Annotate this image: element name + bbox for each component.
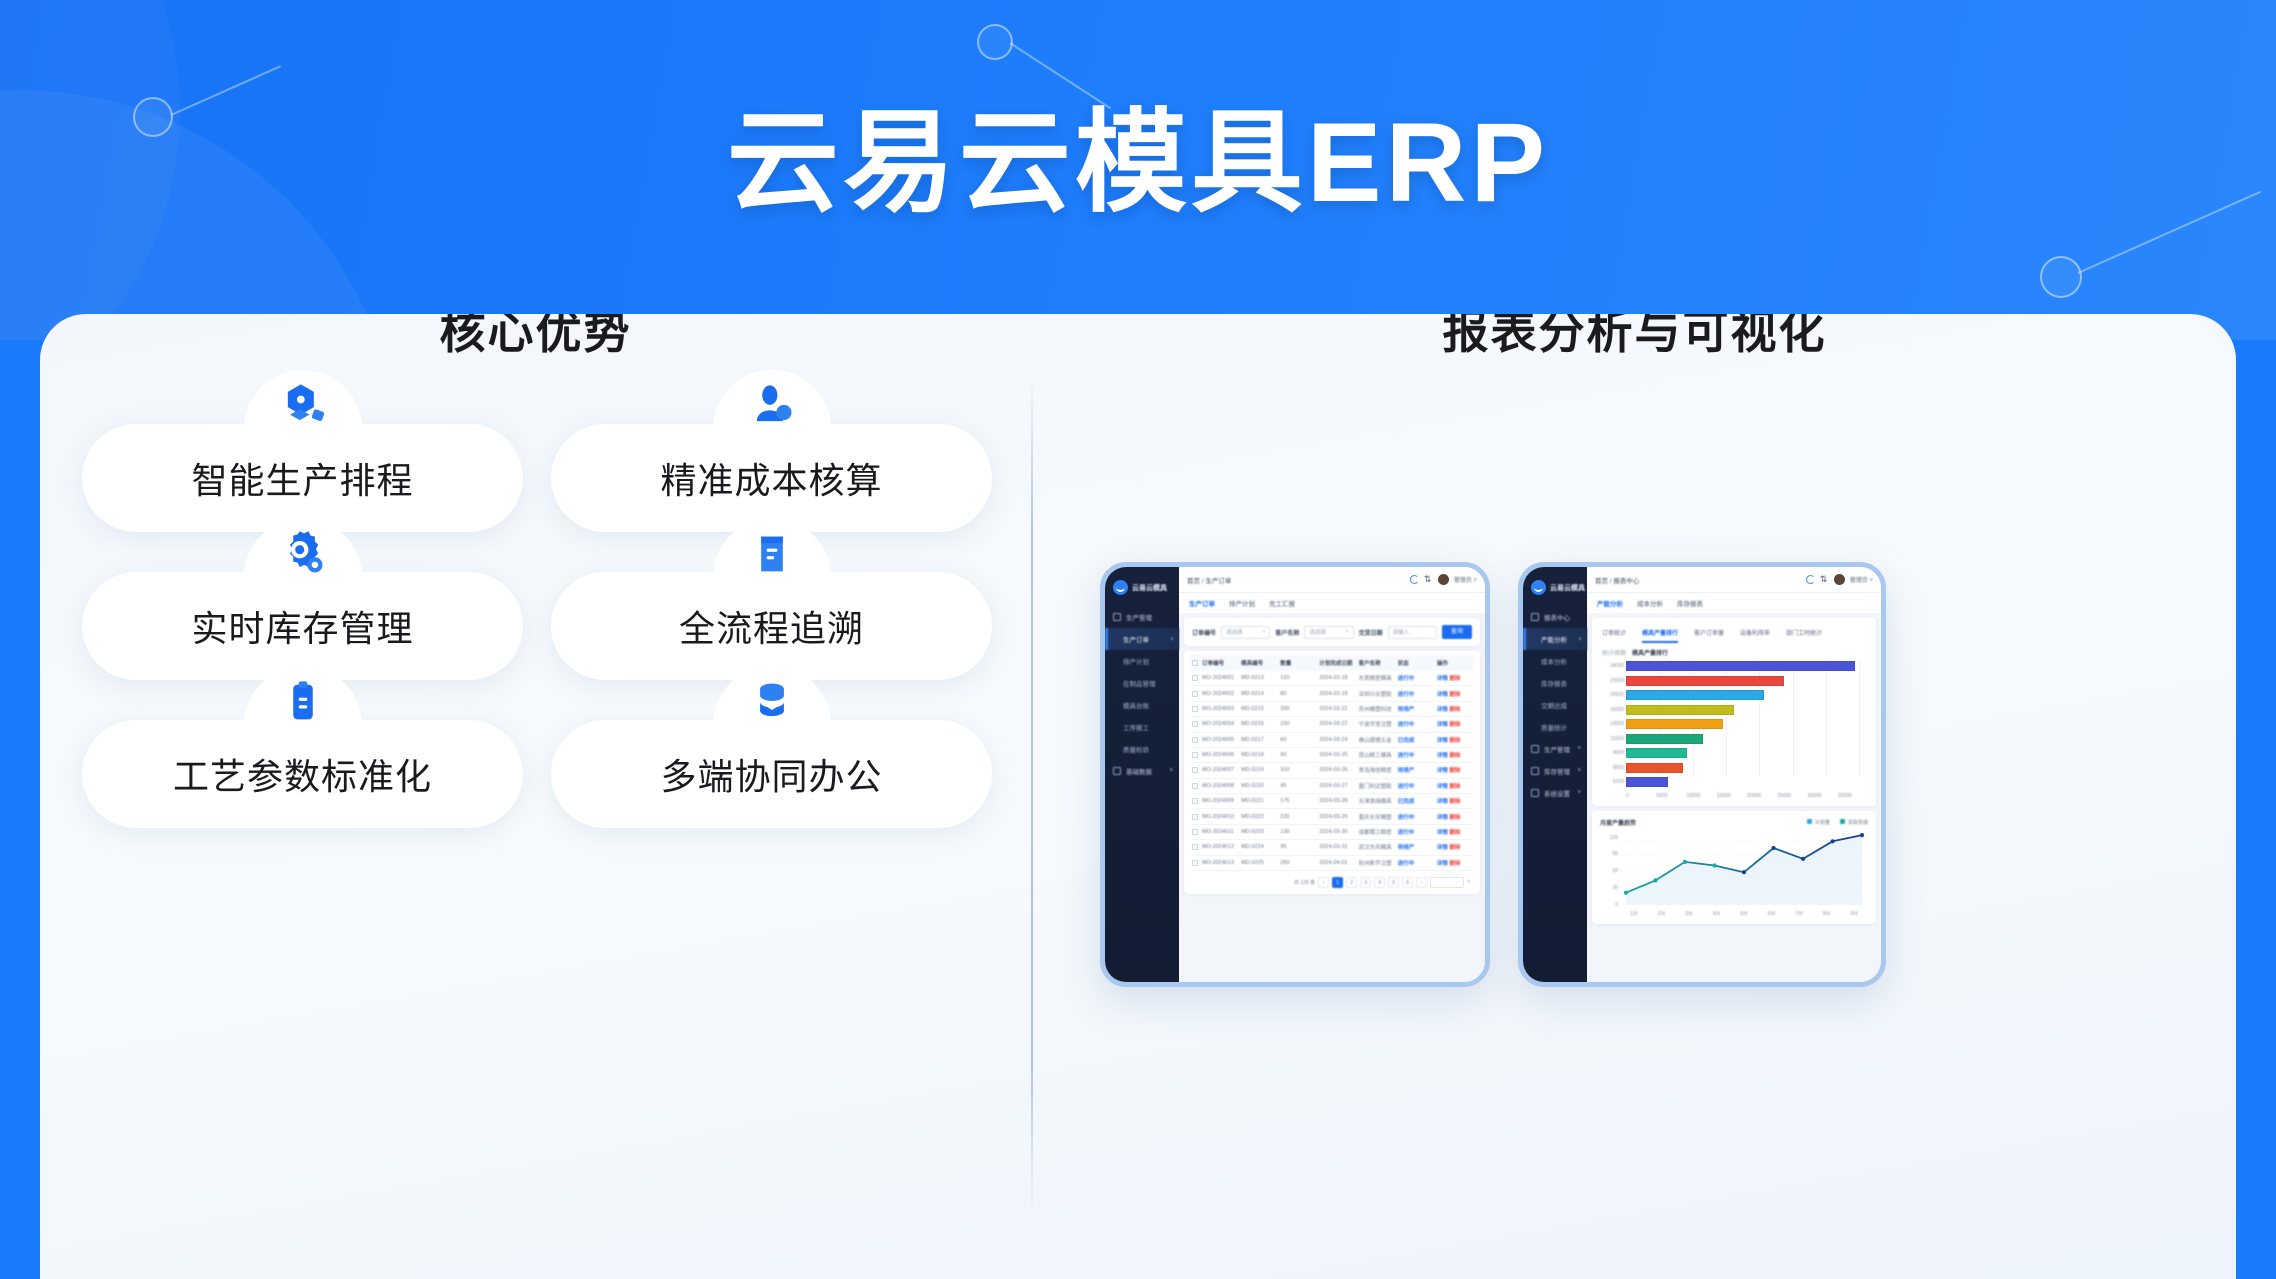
clipboard-icon — [277, 676, 329, 728]
line-chart-card: 月度产量趋势 计划量实际完成 0306090120 1月2月3月4月5月6月7月… — [1592, 811, 1876, 924]
cell: 东莞精密模具 — [1357, 671, 1396, 686]
sub-tab-2[interactable]: 客户订单量 — [1694, 628, 1724, 643]
cell: 武汉东风模具 — [1357, 840, 1396, 855]
bar — [1626, 705, 1734, 715]
page-body: 订单统计模具产量排行客户订单量设备利用率部门工时统计 统计周期模具产量排行 34… — [1587, 613, 1881, 982]
cell: 130 — [1278, 824, 1317, 839]
sidebar-item-2[interactable]: 库存报表 — [1523, 672, 1587, 694]
delete-link[interactable]: 删除 — [1449, 768, 1460, 774]
feature-card[interactable]: 多端协同办公 — [551, 720, 992, 828]
chevron-down-icon: ˅ — [1577, 790, 1581, 796]
feature-card[interactable]: 智能生产排程 — [82, 424, 523, 532]
sub-tab-0[interactable]: 订单统计 — [1602, 628, 1626, 643]
x-tick-1: 2月 — [1648, 910, 1676, 917]
delete-link[interactable]: 删除 — [1449, 692, 1460, 698]
sidebar-item-label: 交期达成 — [1541, 703, 1567, 710]
bar-label: 11500 — [1600, 736, 1624, 742]
app-logo: 云易云模具 — [1523, 571, 1587, 606]
sidebar-group-2[interactable]: 系统设置˅ — [1523, 782, 1587, 804]
cell: MO-2024005 — [1200, 732, 1239, 747]
x-tick-7: 35000 — [1838, 793, 1868, 799]
status-badge: 待排产 — [1396, 840, 1435, 855]
cell: MD-0218 — [1239, 747, 1278, 762]
bar-row-2: 20500 — [1626, 689, 1868, 701]
bar-row-5: 11500 — [1626, 733, 1868, 745]
username-label[interactable]: 管理员 ˅ — [1850, 575, 1873, 584]
line-chart-x-axis: 1月2月3月4月5月6月7月8月9月 — [1620, 910, 1868, 917]
sidebar-item-label: 产能分析 — [1541, 637, 1567, 644]
cell: 2024-03-22 — [1317, 717, 1356, 732]
sidebar: 云易云模具 报表中心 产能分析›成本分析库存报表交期达成质量统计 生产管理˅库存… — [1523, 567, 1587, 982]
row-checkbox[interactable] — [1190, 763, 1200, 778]
detail-link[interactable]: 详情 删除 — [1435, 701, 1474, 716]
sidebar-item-label: 质量检验 — [1123, 747, 1149, 754]
table-row[interactable]: MO-2024013MD-02252602024-04-01杭州新宇注塑进行中详… — [1190, 855, 1474, 870]
sidebar-group-label: 生产管理 — [1126, 612, 1152, 622]
cell: MD-0222 — [1239, 809, 1278, 824]
cell: MO-2024008 — [1200, 778, 1239, 793]
feature-card[interactable]: 精准成本核算 — [551, 424, 992, 532]
delete-link[interactable]: 删除 — [1449, 738, 1460, 744]
cell: 天津渤海模具 — [1357, 794, 1396, 809]
detail-link[interactable]: 详情 删除 — [1435, 794, 1474, 809]
filter-value: 请选择 — [1226, 628, 1243, 636]
cell: MD-0215 — [1239, 701, 1278, 716]
sidebar-item-label: 模具台账 — [1123, 703, 1149, 710]
bar-chart-title: 统计周期模具产量排行 — [1602, 648, 1868, 657]
grid-icon — [1113, 613, 1121, 621]
user-group-icon — [746, 380, 798, 432]
x-tick-4: 20000 — [1747, 793, 1777, 799]
cell: MO-2024010 — [1200, 809, 1239, 824]
cell: 杭州新宇注塑 — [1357, 855, 1396, 870]
cell: MD-0221 — [1239, 794, 1278, 809]
table-row[interactable]: MO-2024001MD-02131202024-03-18东莞精密模具进行中详… — [1190, 671, 1474, 686]
table-row[interactable]: MO-2024009MD-02211752024-03-28天津渤海模具已完成详… — [1190, 794, 1474, 809]
bar-chart-subtitle: 统计周期 — [1602, 651, 1626, 657]
detail-link[interactable]: 详情 删除 — [1435, 840, 1474, 855]
bar-label: 20500 — [1600, 692, 1624, 698]
bar-row-0: 34000 — [1626, 660, 1868, 672]
x-tick-3: 4月 — [1703, 910, 1731, 917]
detail-link[interactable]: 详情 删除 — [1435, 717, 1474, 732]
cell: 佛山顺德五金 — [1357, 732, 1396, 747]
delete-link[interactable]: 删除 — [1449, 815, 1460, 821]
cell: MO-2024006 — [1200, 747, 1239, 762]
row-checkbox[interactable] — [1190, 701, 1200, 716]
sidebar-group-label: 生产管理 — [1544, 744, 1570, 754]
x-tick-2: 3月 — [1675, 910, 1703, 917]
total-count: 共 126 条 — [1294, 879, 1315, 886]
line-chart-title: 月度产量趋势 — [1600, 818, 1636, 827]
bar-label: 8500 — [1600, 765, 1624, 771]
bar — [1626, 748, 1687, 758]
bar-label: 23500 — [1600, 678, 1624, 684]
cell: 成都蜀江精密 — [1357, 824, 1396, 839]
table-row[interactable]: MO-2024012MD-0224952024-03-31武汉东风模具待排产详情… — [1190, 840, 1474, 855]
cell: MO-2024009 — [1200, 794, 1239, 809]
sidebar-item-label: 排产计划 — [1123, 659, 1149, 666]
cell: 2024-03-27 — [1317, 778, 1356, 793]
delete-link[interactable]: 删除 — [1449, 845, 1460, 851]
page-title: 云易云模具ERP — [0, 72, 2276, 234]
sidebar-group-label: 库存管理 — [1544, 766, 1570, 776]
detail-link[interactable]: 详情 删除 — [1435, 809, 1474, 824]
y-tick-4: 120 — [1610, 835, 1618, 841]
bar-chart: 3400023500205001600014500115009000850062… — [1600, 660, 1868, 788]
sidebar-item-3[interactable]: 交期达成 — [1523, 694, 1587, 716]
delete-link[interactable]: 删除 — [1449, 861, 1460, 867]
cell: 45 — [1278, 778, 1317, 793]
column-header-2: 模具编号 — [1239, 655, 1278, 671]
sidebar-group-basedata[interactable]: 基础数据 ˅ — [1105, 760, 1179, 782]
cell: MD-0219 — [1239, 763, 1278, 778]
sidebar-item-2[interactable]: 在制品管理 — [1105, 672, 1179, 694]
table-row[interactable]: MO-2024011MD-02231302024-03-30成都蜀江精密进行中详… — [1190, 824, 1474, 839]
feature-card[interactable]: 实时库存管理 — [82, 572, 523, 680]
delete-link[interactable]: 删除 — [1449, 784, 1460, 790]
table-card: 订单编号模具编号数量计划完成日期客户名称状态操作 MO-2024001MD-02… — [1184, 651, 1480, 894]
filter-select-0[interactable]: 请选择˅ — [1221, 626, 1270, 639]
cell: 80 — [1278, 686, 1317, 701]
page-button-0[interactable]: ‹ — [1318, 877, 1329, 888]
filter-row: 订单编号请选择˅客户名称请选择˅交货日期请输入查询 — [1192, 625, 1472, 639]
cell: 2024-03-31 — [1317, 840, 1356, 855]
cell: 95 — [1278, 840, 1317, 855]
sidebar-group-list: 生产管理˅库存管理˅系统设置˅ — [1523, 738, 1587, 804]
breadcrumb: 首页 / 报表中心 — [1595, 575, 1639, 585]
bar-row-6: 9000 — [1626, 747, 1868, 759]
cube-hexagon-icon — [277, 380, 329, 432]
sidebar-group-production[interactable]: 生产管理 — [1105, 606, 1179, 628]
status-badge: 进行中 — [1396, 671, 1435, 686]
x-tick-6: 30000 — [1808, 793, 1838, 799]
select-all-checkbox[interactable] — [1192, 660, 1198, 666]
gear-icon — [1531, 789, 1539, 797]
tab-bar: 产能分析成本分析库存报表 — [1587, 593, 1881, 613]
table-row[interactable]: MO-2024006MD-0218902024-03-25昆山精工模具进行中详情… — [1190, 747, 1474, 762]
row-checkbox[interactable] — [1190, 824, 1200, 839]
cell: 120 — [1278, 671, 1317, 686]
tab-0[interactable]: 生产订单 — [1189, 598, 1215, 608]
bar — [1626, 734, 1703, 744]
decorative-circle-icon — [2040, 256, 2082, 298]
status-badge: 进行中 — [1396, 686, 1435, 701]
column-header-5: 客户名称 — [1357, 655, 1396, 671]
sidebar-group-0[interactable]: 生产管理˅ — [1523, 738, 1587, 760]
chevron-down-icon: ˅ — [1262, 629, 1265, 635]
cell: MD-0225 — [1239, 855, 1278, 870]
cell: 深圳兴业塑胶 — [1357, 686, 1396, 701]
cell: 2024-03-21 — [1317, 701, 1356, 716]
delete-link[interactable]: 删除 — [1449, 799, 1460, 805]
bar-label: 16000 — [1600, 707, 1624, 713]
chart-icon — [1531, 613, 1539, 621]
filter-value: 请输入 — [1393, 628, 1410, 636]
chevron-down-icon[interactable]: ˅ — [1467, 879, 1470, 885]
search-button[interactable]: 查询 — [1442, 625, 1472, 639]
bar — [1626, 661, 1855, 671]
table-row[interactable]: MO-2024005MD-0217602024-03-24佛山顺德五金已完成详情… — [1190, 732, 1474, 747]
page-button-3[interactable]: 3 — [1360, 877, 1371, 888]
line-chart-y-axis: 0306090120 — [1600, 827, 1618, 905]
filter-input-2[interactable]: 请输入 — [1388, 626, 1437, 639]
logo-text: 云易云模具 — [1132, 583, 1167, 593]
sidebar: 云易云模具 生产管理 生产订单›排产计划在制品管理模具台账工序报工质量检验 基础… — [1105, 567, 1179, 982]
x-tick-0: 1月 — [1620, 910, 1648, 917]
row-checkbox[interactable] — [1190, 717, 1200, 732]
main-content: 首页 / 生产订单 ⇅ 管理员 ˅ 生产订单排产计划完工汇报 订单编号请选择˅客… — [1179, 567, 1485, 982]
bar-label: 14500 — [1600, 721, 1624, 727]
bar — [1626, 676, 1784, 686]
database-stack-icon — [746, 676, 798, 728]
cell: MD-0224 — [1239, 840, 1278, 855]
row-checkbox[interactable] — [1190, 732, 1200, 747]
username-label[interactable]: 管理员 ˅ — [1454, 575, 1477, 584]
cell: MO-2024011 — [1200, 824, 1239, 839]
bar-chart-x-axis: 05000100001500020000250003000035000 — [1626, 791, 1868, 799]
cell: 2024-03-30 — [1317, 824, 1356, 839]
cell: MD-0223 — [1239, 824, 1278, 839]
cell: 苏州模塑科技 — [1357, 701, 1396, 716]
filter-card: 订单编号请选择˅客户名称请选择˅交货日期请输入查询 — [1184, 618, 1480, 646]
detail-link[interactable]: 详情 删除 — [1435, 855, 1474, 870]
bar — [1626, 690, 1764, 700]
page-button-4[interactable]: 4 — [1374, 877, 1385, 888]
pagination: 共 126 条‹123456›˅ — [1190, 871, 1474, 890]
sidebar-item-0[interactable]: 产能分析› — [1523, 628, 1587, 650]
sidebar-item-0[interactable]: 生产订单› — [1105, 628, 1179, 650]
detail-link[interactable]: 详情 删除 — [1435, 732, 1474, 747]
detail-link[interactable]: 详情 删除 — [1435, 686, 1474, 701]
y-tick-3: 90 — [1612, 851, 1618, 857]
row-checkbox[interactable] — [1190, 840, 1200, 855]
cell: MD-0216 — [1239, 717, 1278, 732]
cell: 厦门利达塑胶 — [1357, 778, 1396, 793]
cell: 2024-03-25 — [1317, 747, 1356, 762]
cell: MO-2024007 — [1200, 763, 1239, 778]
sidebar-item-1[interactable]: 成本分析 — [1523, 650, 1587, 672]
status-badge: 已完成 — [1396, 732, 1435, 747]
chevron-right-icon: › — [1171, 636, 1173, 643]
sidebar-group-label: 报表中心 — [1544, 612, 1570, 622]
chevron-down-icon: ˅ — [1577, 768, 1581, 774]
cell: 260 — [1278, 855, 1317, 870]
column-header-1: 订单编号 — [1200, 655, 1239, 671]
status-badge: 进行中 — [1396, 717, 1435, 732]
sub-tab-bar: 订单统计模具产量排行客户订单量设备利用率部门工时统计 — [1600, 625, 1868, 643]
orders-table: 订单编号模具编号数量计划完成日期客户名称状态操作 MO-2024001MD-02… — [1190, 655, 1474, 871]
sidebar-group-label: 系统设置 — [1544, 788, 1570, 798]
row-checkbox[interactable] — [1190, 778, 1200, 793]
column-header-4: 计划完成日期 — [1317, 655, 1356, 671]
x-tick-0: 0 — [1626, 793, 1656, 799]
y-tick-1: 30 — [1612, 885, 1618, 891]
delete-link[interactable]: 删除 — [1449, 722, 1460, 728]
detail-link[interactable]: 详情 删除 — [1435, 778, 1474, 793]
logo-mark-icon — [1113, 580, 1128, 595]
cell: MO-2024013 — [1200, 855, 1239, 870]
filter-label-0: 订单编号 — [1192, 628, 1216, 637]
sidebar-item-1[interactable]: 排产计划 — [1105, 650, 1179, 672]
cell: 310 — [1278, 763, 1317, 778]
table-row[interactable]: MO-2024003MD-02152002024-03-21苏州模塑科技待排产详… — [1190, 701, 1474, 716]
delete-link[interactable]: 删除 — [1449, 753, 1460, 759]
row-checkbox[interactable] — [1190, 794, 1200, 809]
cell: MO-2024012 — [1200, 840, 1239, 855]
cell: MO-2024002 — [1200, 686, 1239, 701]
filter-label-2: 交货日期 — [1359, 628, 1383, 637]
detail-link[interactable]: 详情 删除 — [1435, 824, 1474, 839]
detail-link[interactable]: 详情 删除 — [1435, 763, 1474, 778]
content-panel: 核心优势 报表分析与可视化 智能生产排程精准成本核算实时库存管理全流程追溯工艺参… — [40, 314, 2236, 1279]
cell: MO-2024004 — [1200, 717, 1239, 732]
y-tick-2: 60 — [1612, 868, 1618, 874]
status-badge: 进行中 — [1396, 747, 1435, 762]
delete-link[interactable]: 删除 — [1449, 830, 1460, 836]
legend-item-0[interactable]: 计划量 — [1807, 819, 1830, 826]
column-header-0 — [1190, 655, 1200, 671]
sub-tab-4[interactable]: 部门工时统计 — [1786, 628, 1822, 643]
line-chart: 0306090120 — [1600, 827, 1868, 910]
sidebar-item-label: 生产订单 — [1123, 637, 1149, 644]
table-row[interactable]: MO-2024007MD-02193102024-03-26青岛海信精密待排产详… — [1190, 763, 1474, 778]
chevron-down-icon: ˅ — [1577, 746, 1581, 752]
delete-link[interactable]: 删除 — [1449, 707, 1460, 713]
status-badge: 已完成 — [1396, 794, 1435, 809]
cell: 220 — [1278, 809, 1317, 824]
tab-2[interactable]: 库存报表 — [1677, 598, 1703, 608]
avatar[interactable] — [1438, 574, 1449, 585]
refresh-icon[interactable] — [1806, 575, 1815, 584]
page-button-5[interactable]: 5 — [1388, 877, 1399, 888]
bar-label: 6200 — [1600, 779, 1624, 785]
section-divider — [1031, 376, 1033, 1216]
fullscreen-icon[interactable]: ⇅ — [1820, 575, 1829, 584]
column-header-7: 操作 — [1435, 655, 1474, 671]
cell: 2024-03-29 — [1317, 809, 1356, 824]
tablet-mockup-reports: 云易云模具 报表中心 产能分析›成本分析库存报表交期达成质量统计 生产管理˅库存… — [1518, 562, 1886, 987]
sidebar-item-5[interactable]: 质量检验 — [1105, 738, 1179, 760]
decorative-circle-icon — [977, 24, 1013, 60]
chevron-down-icon: ˅ — [1346, 629, 1349, 635]
sidebar-item-list: 产能分析›成本分析库存报表交期达成质量统计 — [1523, 628, 1587, 738]
cell: 90 — [1278, 747, 1317, 762]
sidebar-item-label: 工序报工 — [1123, 725, 1149, 732]
row-checkbox[interactable] — [1190, 855, 1200, 870]
x-tick-5: 6月 — [1758, 910, 1786, 917]
avatar[interactable] — [1834, 574, 1845, 585]
sub-tab-1[interactable]: 模具产量排行 — [1642, 628, 1678, 643]
tab-1[interactable]: 排产计划 — [1229, 598, 1255, 608]
cell: 宁波华宝注塑 — [1357, 717, 1396, 732]
sidebar-item-4[interactable]: 工序报工 — [1105, 716, 1179, 738]
row-checkbox[interactable] — [1190, 671, 1200, 686]
logo-text: 云易云模具 — [1550, 583, 1585, 593]
bar-label: 9000 — [1600, 750, 1624, 756]
x-tick-8: 9月 — [1841, 910, 1869, 917]
feature-card-grid: 智能生产排程精准成本核算实时库存管理全流程追溯工艺参数标准化多端协同办公 — [82, 424, 992, 828]
feature-card[interactable]: 工艺参数标准化 — [82, 720, 523, 828]
table-row[interactable]: MO-2024004MD-02161502024-03-22宁波华宝注塑进行中详… — [1190, 717, 1474, 732]
tablet-mockup-order-list: 云易云模具 生产管理 生产订单›排产计划在制品管理模具台账工序报工质量检验 基础… — [1100, 562, 1490, 987]
sidebar-item-3[interactable]: 模具台账 — [1105, 694, 1179, 716]
delete-link[interactable]: 删除 — [1449, 676, 1460, 682]
table-row[interactable]: MO-2024010MD-02222202024-03-29重庆长安模塑进行中详… — [1190, 809, 1474, 824]
x-tick-2: 10000 — [1687, 793, 1717, 799]
left-section-title: 核心优势 — [40, 314, 1031, 362]
refresh-icon[interactable] — [1410, 575, 1419, 584]
page-body: 订单编号请选择˅客户名称请选择˅交货日期请输入查询 订单编号模具编号数量计划完成… — [1179, 613, 1485, 982]
cell: MO-2024001 — [1200, 671, 1239, 686]
page-button-7[interactable]: › — [1416, 877, 1427, 888]
bar-row-3: 16000 — [1626, 704, 1868, 716]
x-tick-1: 5000 — [1656, 793, 1686, 799]
page-jump-input[interactable] — [1430, 877, 1464, 888]
page-button-6[interactable]: 6 — [1402, 877, 1413, 888]
cell: 昆山精工模具 — [1357, 747, 1396, 762]
line-chart-svg — [1620, 827, 1868, 905]
row-checkbox[interactable] — [1190, 686, 1200, 701]
sidebar-group-1[interactable]: 库存管理˅ — [1523, 760, 1587, 782]
sidebar-group-label: 基础数据 — [1126, 766, 1152, 776]
gear-icon — [277, 528, 329, 580]
cell: 2024-03-26 — [1317, 763, 1356, 778]
sidebar-item-4[interactable]: 质量统计 — [1523, 716, 1587, 738]
bar-row-7: 8500 — [1626, 762, 1868, 774]
chevron-down-icon: ˅ — [1169, 768, 1173, 774]
sub-tab-3[interactable]: 设备利用率 — [1740, 628, 1770, 643]
cell: 2024-04-01 — [1317, 855, 1356, 870]
breadcrumb: 首页 / 生产订单 — [1187, 575, 1231, 585]
feature-label: 工艺参数标准化 — [173, 748, 432, 800]
cell: MO-2024003 — [1200, 701, 1239, 716]
table-row[interactable]: MO-2024002MD-0214802024-03-19深圳兴业塑胶进行中详情… — [1190, 686, 1474, 701]
detail-link[interactable]: 详情 删除 — [1435, 671, 1474, 686]
bar — [1626, 777, 1668, 787]
filter-label-1: 客户名称 — [1275, 628, 1299, 637]
page-button-1[interactable]: 1 — [1332, 877, 1343, 888]
status-badge: 进行中 — [1396, 809, 1435, 824]
db-icon — [1113, 767, 1121, 775]
bar-row-1: 23500 — [1626, 675, 1868, 687]
cell: 青岛海信精密 — [1357, 763, 1396, 778]
sidebar-group-reports[interactable]: 报表中心 — [1523, 606, 1587, 628]
detail-link[interactable]: 详情 删除 — [1435, 747, 1474, 762]
tab-2[interactable]: 完工汇报 — [1269, 598, 1295, 608]
tab-0[interactable]: 产能分析 — [1597, 598, 1623, 608]
cell: 200 — [1278, 701, 1317, 716]
cell: MD-0213 — [1239, 671, 1278, 686]
cell: 重庆长安模塑 — [1357, 809, 1396, 824]
filter-select-1[interactable]: 请选择˅ — [1304, 626, 1353, 639]
row-checkbox[interactable] — [1190, 809, 1200, 824]
hero-banner: 云易云模具ERP — [0, 0, 2276, 340]
page-button-2[interactable]: 2 — [1346, 877, 1357, 888]
tab-1[interactable]: 成本分析 — [1637, 598, 1663, 608]
feature-card[interactable]: 全流程追溯 — [551, 572, 992, 680]
legend-item-1[interactable]: 实际完成 — [1840, 819, 1868, 826]
sidebar-item-list: 生产订单›排产计划在制品管理模具台账工序报工质量检验 — [1105, 628, 1179, 760]
x-tick-4: 5月 — [1730, 910, 1758, 917]
legend-swatch — [1807, 819, 1812, 824]
fullscreen-icon[interactable]: ⇅ — [1424, 575, 1433, 584]
table-row[interactable]: MO-2024008MD-0220452024-03-27厦门利达塑胶进行中详情… — [1190, 778, 1474, 793]
column-header-6: 状态 — [1396, 655, 1435, 671]
filter-value: 请选择 — [1309, 628, 1326, 636]
feature-label: 精准成本核算 — [660, 452, 882, 504]
row-checkbox[interactable] — [1190, 747, 1200, 762]
